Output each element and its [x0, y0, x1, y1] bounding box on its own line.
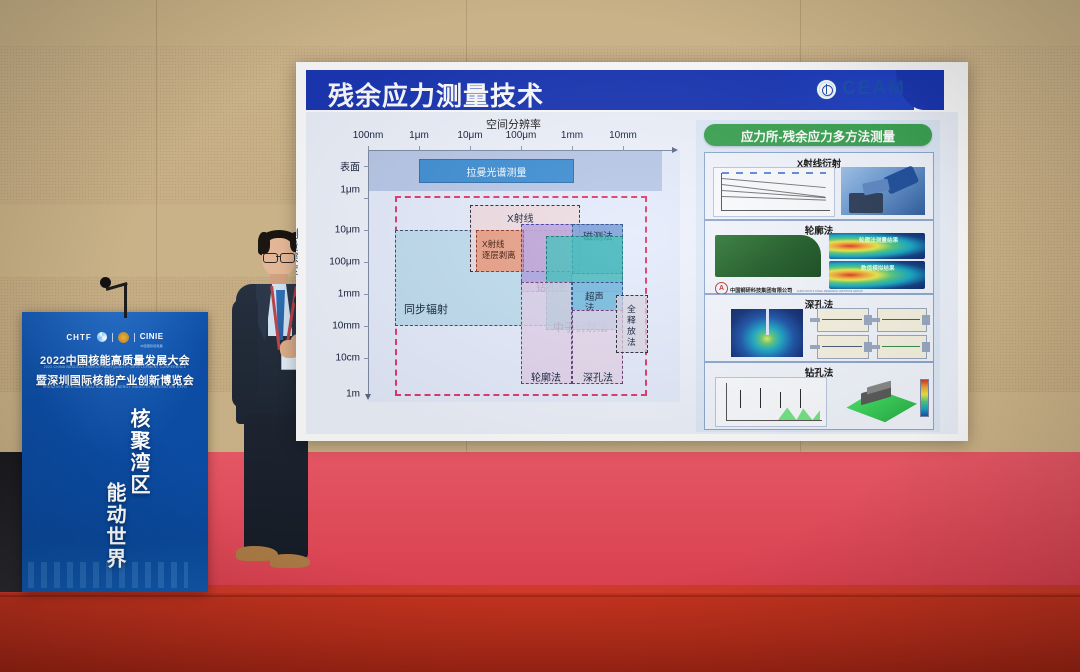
chart-y-tick	[364, 358, 369, 359]
region-label: 同步辐射	[404, 301, 448, 317]
chart-y-axis-title: 测量深度	[296, 228, 300, 276]
contour-3d-model	[715, 235, 821, 277]
right-panel-heading: 应力所-残余应力多方法测量	[704, 124, 932, 146]
nuclear-emblem-icon	[118, 332, 129, 343]
cinie-logo-subtext: 中国国际核能展	[140, 344, 164, 348]
chart-y-tick-label: 10mm	[310, 321, 360, 332]
chart-y-tick-label: 10cm	[310, 353, 360, 364]
chart-y-tick	[364, 294, 369, 295]
right-panel-heading-label: 应力所-残余应力多方法测量	[741, 126, 895, 145]
chart-x-tick-label: 10mm	[609, 130, 637, 141]
deep-hole-schematic-1	[817, 308, 869, 332]
chart-x-tick-label: 100μm	[506, 130, 537, 141]
chart-y-axis-arrow-icon	[365, 394, 371, 400]
chart-x-tick-label: 10μm	[457, 130, 482, 141]
banner-slogan-line1: 核聚湾区	[126, 408, 149, 496]
conference-photo: CHTF CINIE 中国国际核能展 2022中国核能高质量发展大会 2022 …	[0, 0, 1080, 672]
chart-y-tick	[364, 198, 369, 199]
region-full-release-method: 全释放法	[616, 295, 648, 353]
chtf-logo-mark-icon	[97, 332, 107, 342]
contour-simulation-heatmap: 数值模拟结果	[829, 261, 925, 289]
heatmap-caption: 数值模拟结果	[861, 264, 895, 272]
banner-title-line2-en: SHENZHEN INTERNATIONAL NUCLEAR ENERGY IN…	[22, 385, 208, 389]
ceam-wordmark: CEAM	[842, 78, 906, 100]
chart-y-tick-label: 100μm	[310, 257, 360, 268]
deep-hole-schematic-3	[817, 335, 869, 359]
contour-measurement-heatmap: 轮廓法测量结果	[829, 233, 925, 259]
slide-title: 残余应力测量技术	[328, 76, 544, 113]
chart-x-tick-label: 1mm	[561, 130, 583, 141]
drilling-result-plot	[715, 377, 827, 427]
wall-swath-1	[0, 0, 1080, 46]
chart-y-tick-label: 表面	[310, 159, 360, 174]
chart-y-tick-label: 1mm	[310, 289, 360, 300]
drilling-colorbar	[920, 379, 929, 417]
chart-y-tick-label: 1m	[310, 389, 360, 400]
chart-y-tick-label: 10μm	[310, 225, 360, 236]
deep-hole-schematic-4	[877, 335, 927, 359]
drilling-3d-render	[833, 375, 917, 425]
stage-front-face	[0, 593, 1080, 672]
region-label: 深孔法	[583, 369, 613, 384]
chart-y-tick	[364, 230, 369, 231]
chart-y-tick	[364, 262, 369, 263]
chart-x-tick-label: 100nm	[353, 130, 384, 141]
chart-y-tick	[364, 326, 369, 327]
banner-slogan-line2: 能动世界	[102, 482, 125, 570]
logo-divider	[112, 333, 113, 342]
card-hole-drilling: 钻孔法	[704, 362, 934, 430]
stress-method-chart: 空间分辨率 100nm 1μm 10μm 100μm 1mm 10mm	[368, 150, 680, 402]
chart-y-tick-label: 1μm	[310, 185, 360, 196]
xrd-line-plot	[713, 167, 835, 217]
region-label: X射线	[507, 210, 534, 225]
microphone-head-icon	[100, 277, 111, 288]
presenter-hair-side	[258, 232, 270, 254]
banner-title-line1-en: 2022 CHINA NUCLEAR ENERGY HIGH QUALITY D…	[22, 365, 208, 369]
card-contour: 轮廓法 A 中国钢研科技集团有限公司 CHINA IRON & STEEL RE…	[704, 220, 934, 294]
region-x-ray-layer-removal: X射线逐层剥离	[476, 230, 524, 272]
xrd-equipment-photo	[841, 167, 925, 215]
microphone-stand-pole	[124, 284, 127, 318]
chart-x-axis-arrow-icon	[672, 147, 678, 153]
presentation-slide: 残余应力测量技术 CEAM 空间分辨率	[296, 62, 968, 441]
projection-screen: 残余应力测量技术 CEAM 空间分辨率	[296, 62, 968, 441]
chtf-logo-text: CHTF	[66, 333, 91, 342]
region-label: 拉曼光谱测量	[467, 164, 527, 179]
region-label: 轮廓法	[531, 369, 561, 384]
presenter-glasses-bridge	[276, 256, 280, 257]
cinie-logo-text: CINIE	[140, 332, 164, 341]
steel-institute-mark-icon: A	[715, 282, 728, 295]
region-raman-spectroscopy: 拉曼光谱测量	[419, 159, 574, 183]
deep-hole-schematic-2	[877, 308, 927, 332]
presenter-arm-left	[232, 298, 258, 408]
card-deep-hole: 深孔法	[704, 294, 934, 362]
presenter-trousers-left	[244, 414, 278, 554]
ceam-seal-icon	[816, 79, 837, 100]
banner-logo-row: CHTF CINIE 中国国际核能展	[22, 326, 208, 348]
region-contour-method: 轮廓法	[521, 282, 572, 384]
presenter-shoe-right	[270, 554, 310, 568]
region-label: 全释放法	[627, 304, 636, 348]
chart-x-tick-label: 1μm	[409, 130, 429, 141]
stage-skirt-line	[0, 595, 1080, 597]
deep-hole-simulation	[731, 309, 803, 357]
steel-institute-name-en: CHINA IRON & STEEL RESEARCH INSTITUTE GR…	[797, 290, 863, 293]
card-xrd: X射线衍射	[704, 152, 934, 220]
region-label: X射线逐层剥离	[482, 239, 516, 261]
podium-banner: CHTF CINIE 中国国际核能展 2022中国核能高质量发展大会 2022 …	[22, 312, 208, 592]
presenter-glasses-left	[263, 253, 278, 263]
heatmap-caption: 轮廓法测量结果	[859, 236, 898, 244]
presenter-glasses-right	[280, 253, 295, 263]
logo-divider-2	[134, 333, 135, 342]
ceam-logo: CEAM	[816, 78, 906, 100]
